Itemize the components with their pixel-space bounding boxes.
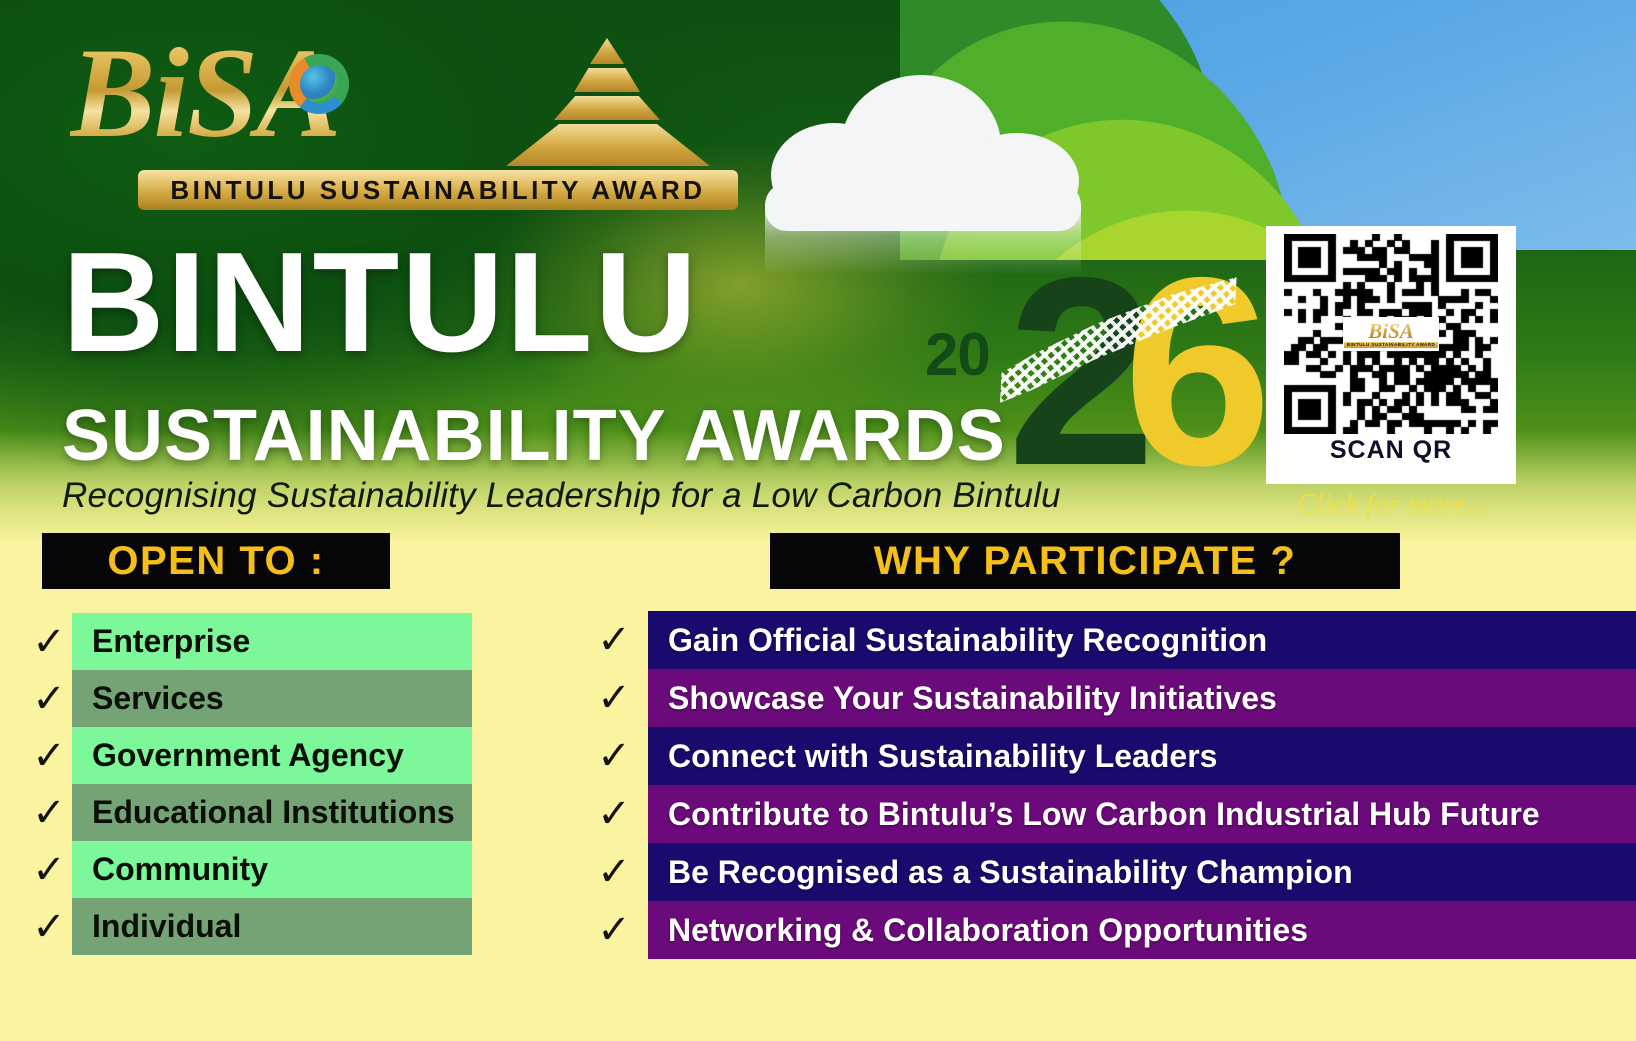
check-icon: ✓ xyxy=(26,736,72,776)
check-icon: ✓ xyxy=(26,793,72,833)
year-lockup: 2 6 20 xyxy=(915,245,1215,490)
list-item-label: Educational Institutions xyxy=(92,794,455,831)
list-item-bar: Individual xyxy=(72,898,472,955)
list-item-bar: Be Recognised as a Sustainability Champi… xyxy=(648,843,1636,901)
list-item-label: Be Recognised as a Sustainability Champi… xyxy=(668,854,1353,891)
pagoda-tower-icon xyxy=(498,38,718,166)
list-item-label: Community xyxy=(92,851,268,888)
check-icon: ✓ xyxy=(580,620,648,660)
year-prefix-20: 20 xyxy=(925,320,990,389)
bisa-logo: BiSA BINTULU SUSTAINABILITY AWARD xyxy=(70,18,690,218)
list-item: ✓Contribute to Bintulu’s Low Carbon Indu… xyxy=(580,785,1636,843)
list-item-bar: Government Agency xyxy=(72,727,472,784)
list-item: ✓Networking & Collaboration Opportunitie… xyxy=(580,901,1636,959)
list-item-label: Services xyxy=(92,680,224,717)
why-participate-header-text: WHY PARTICIPATE ? xyxy=(874,539,1297,584)
list-item: ✓Connect with Sustainability Leaders xyxy=(580,727,1636,785)
open-to-header: OPEN TO : xyxy=(42,533,390,589)
list-item-bar: Gain Official Sustainability Recognition xyxy=(648,611,1636,669)
qr-center-logo-bar: BINTULU SUSTAINABILITY AWARD xyxy=(1344,342,1438,348)
list-item: ✓Educational Institutions xyxy=(26,784,472,841)
open-to-list: ✓Enterprise✓Services✓Government Agency✓E… xyxy=(26,613,472,955)
cloud-icon xyxy=(745,75,1085,225)
list-item: ✓Individual xyxy=(26,898,472,955)
list-item: ✓Services xyxy=(26,670,472,727)
why-participate-header: WHY PARTICIPATE ? xyxy=(770,533,1400,589)
list-item: ✓Gain Official Sustainability Recognitio… xyxy=(580,611,1636,669)
list-item: ✓Community xyxy=(26,841,472,898)
check-icon: ✓ xyxy=(26,679,72,719)
qr-click-hint[interactable]: Click for more... xyxy=(1297,489,1489,521)
list-item-label: Networking & Collaboration Opportunities xyxy=(668,912,1308,949)
year-digit-6: 6 xyxy=(1123,237,1272,505)
check-icon: ✓ xyxy=(26,907,72,947)
list-item-label: Government Agency xyxy=(92,737,404,774)
qr-center-logo: BiSA BINTULU SUSTAINABILITY AWARD xyxy=(1343,317,1439,351)
list-item-bar: Contribute to Bintulu’s Low Carbon Indus… xyxy=(648,785,1636,843)
page-title: BINTULU xyxy=(62,232,699,374)
list-item-bar: Services xyxy=(72,670,472,727)
list-item-label: Contribute to Bintulu’s Low Carbon Indus… xyxy=(668,796,1540,833)
bisa-wordmark-text: BINTULU SUSTAINABILITY AWARD xyxy=(170,175,705,206)
check-icon: ✓ xyxy=(26,850,72,890)
list-item: ✓Enterprise xyxy=(26,613,472,670)
check-icon: ✓ xyxy=(26,622,72,662)
list-item: ✓Government Agency xyxy=(26,727,472,784)
list-item: ✓Be Recognised as a Sustainability Champ… xyxy=(580,843,1636,901)
check-icon: ✓ xyxy=(580,852,648,892)
list-item-bar: Connect with Sustainability Leaders xyxy=(648,727,1636,785)
list-item: ✓Showcase Your Sustainability Initiative… xyxy=(580,669,1636,727)
list-item-label: Showcase Your Sustainability Initiatives xyxy=(668,680,1277,717)
list-item-bar: Enterprise xyxy=(72,613,472,670)
globe-recycle-icon xyxy=(289,54,349,114)
check-icon: ✓ xyxy=(580,910,648,950)
why-participate-list: ✓Gain Official Sustainability Recognitio… xyxy=(580,611,1636,959)
check-icon: ✓ xyxy=(580,678,648,718)
list-item-label: Gain Official Sustainability Recognition xyxy=(668,622,1267,659)
list-item-label: Connect with Sustainability Leaders xyxy=(668,738,1217,775)
list-item-bar: Educational Institutions xyxy=(72,784,472,841)
open-to-header-text: OPEN TO : xyxy=(107,539,324,584)
list-item-bar: Networking & Collaboration Opportunities xyxy=(648,901,1636,959)
qr-center-logo-text: BiSA xyxy=(1368,321,1414,341)
qr-code-card[interactable]: BiSA BINTULU SUSTAINABILITY AWARD SCAN Q… xyxy=(1266,226,1516,484)
poster-root: BiSA BINTULU SUSTAINABILITY AWARD BINTUL… xyxy=(0,0,1636,1041)
page-subtitle: SUSTAINABILITY AWARDS xyxy=(62,400,1006,472)
bisa-logo-wordmark: BINTULU SUSTAINABILITY AWARD xyxy=(138,170,738,210)
tagline: Recognising Sustainability Leadership fo… xyxy=(62,476,1061,516)
list-item-bar: Community xyxy=(72,841,472,898)
check-icon: ✓ xyxy=(580,736,648,776)
qr-code-image[interactable]: BiSA BINTULU SUSTAINABILITY AWARD xyxy=(1284,234,1498,434)
list-item-label: Enterprise xyxy=(92,623,250,660)
list-item-bar: Showcase Your Sustainability Initiatives xyxy=(648,669,1636,727)
list-item-label: Individual xyxy=(92,908,241,945)
check-icon: ✓ xyxy=(580,794,648,834)
qr-label: SCAN QR xyxy=(1330,436,1452,465)
